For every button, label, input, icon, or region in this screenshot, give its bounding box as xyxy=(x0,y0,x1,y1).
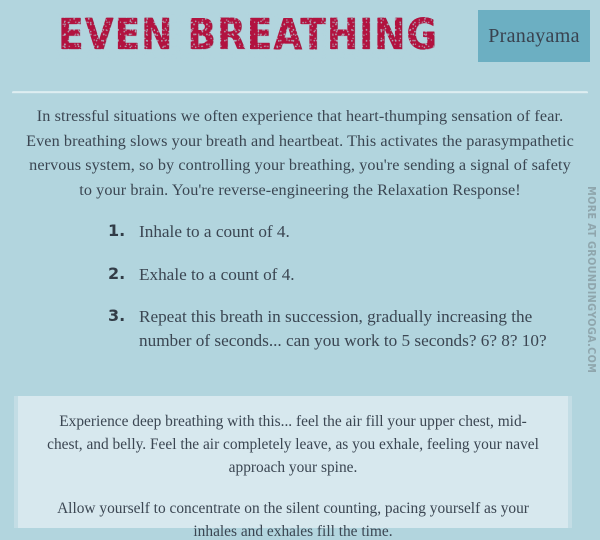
source-attribution: MORE AT GROUNDINGYOGA.COM xyxy=(583,178,599,388)
footer-paragraph: Experience deep breathing with this... f… xyxy=(44,410,542,479)
step-number: 3. xyxy=(108,304,125,328)
step-text: Exhale to a count of 4. xyxy=(139,265,295,284)
steps-list: 1. Inhale to a count of 4. 2. Exhale to … xyxy=(0,220,600,352)
footer-paragraph: Allow yourself to concentrate on the sil… xyxy=(44,497,542,540)
page-title: Even Breathing xyxy=(58,14,438,57)
step-text: Repeat this breath in succession, gradua… xyxy=(139,307,547,350)
header: Even Breathing Pranayama xyxy=(0,0,600,93)
step-number: 2. xyxy=(108,262,125,286)
list-item: 2. Exhale to a count of 4. xyxy=(108,263,579,287)
source-attribution-label: MORE AT GROUNDINGYOGA.COM xyxy=(585,186,597,373)
sanskrit-name-badge: Pranayama xyxy=(478,10,590,62)
infographic-card: Even Breathing Pranayama In stressful si… xyxy=(0,0,600,540)
sanskrit-name-label: Pranayama xyxy=(488,25,580,48)
list-item: 3. Repeat this breath in succession, gra… xyxy=(108,305,579,352)
footer-panel: Experience deep breathing with this... f… xyxy=(14,396,572,528)
main-content: In stressful situations we often experie… xyxy=(0,93,600,352)
intro-paragraph: In stressful situations we often experie… xyxy=(0,93,600,202)
step-text: Inhale to a count of 4. xyxy=(139,222,290,241)
step-number: 1. xyxy=(108,219,125,243)
list-item: 1. Inhale to a count of 4. xyxy=(108,220,579,244)
